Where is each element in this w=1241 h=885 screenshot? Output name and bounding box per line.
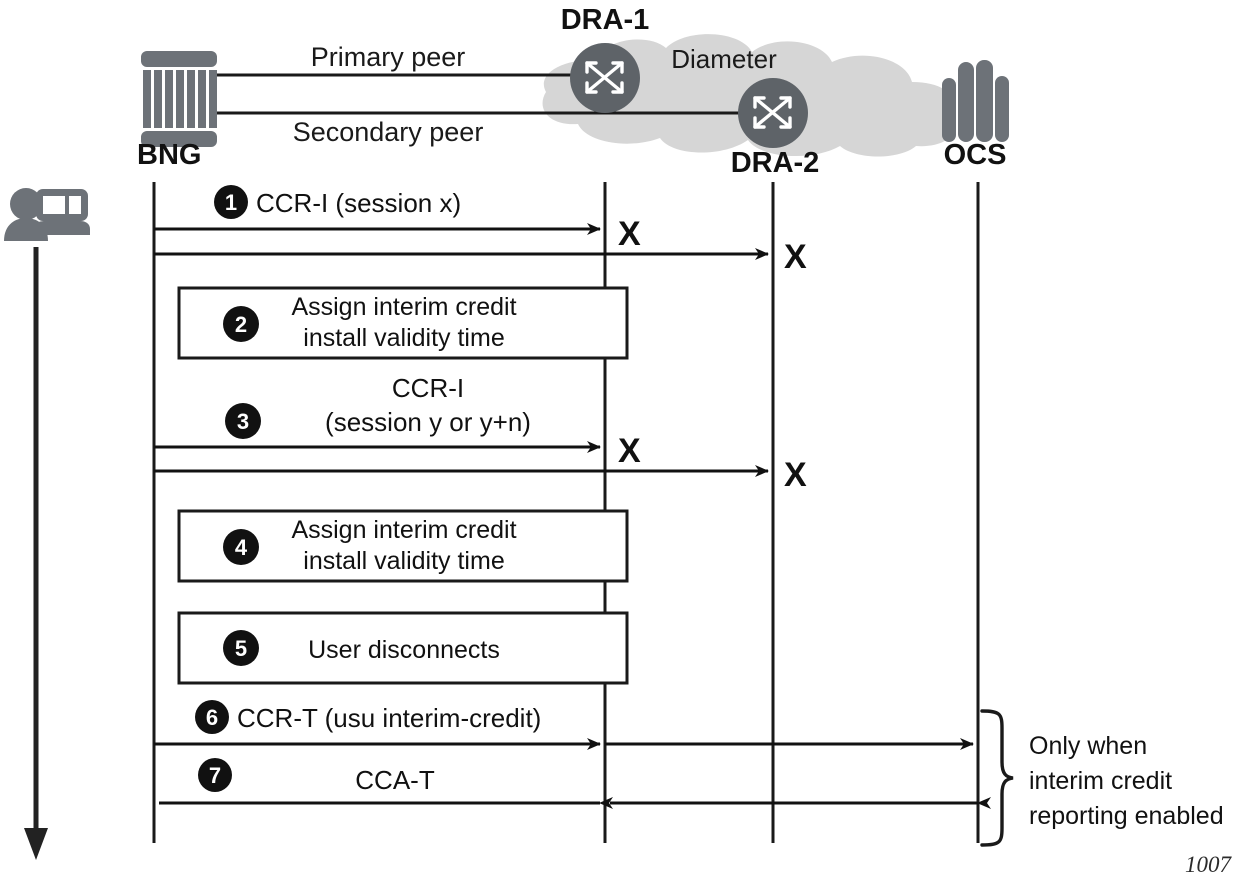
step-3-failure-dra2: X [784,456,807,494]
step-1-failure-dra1: X [618,215,641,253]
secondary-peer-label: Secondary peer [293,117,484,147]
note-step-5: 5 User disconnects [179,613,627,683]
step-2-label-line2: install validity time [303,324,504,352]
step-1-label: CCR-I (session x) [256,188,461,218]
step-4-label-line1: Assign interim credit [291,516,516,544]
step-7-label: CCA-T [355,765,435,795]
step-3-label-line1: CCR-I [392,373,464,403]
step-4-label-line2: install validity time [303,547,504,575]
dra1-router-icon [570,43,640,113]
step-7-badge: 7 [198,758,232,792]
step-3-number: 3 [237,409,249,434]
step-3-failure-dra1: X [618,432,641,470]
diagram-canvas: Diameter BNG Primary peer Secondary peer… [0,0,1241,885]
step-5-label-line1: User disconnects [308,636,500,664]
condition-note-line1: Only when [1029,732,1147,760]
step-6-badge: 6 [195,700,229,734]
step-5-number: 5 [235,636,247,661]
condition-note-line3: reporting enabled [1029,802,1224,830]
ocs-node-label: OCS [944,139,1007,171]
user-workstation-icon [4,188,90,241]
step-1-number: 1 [225,190,237,215]
step-1-badge: 1 [214,185,248,219]
step-4-number: 4 [235,535,248,560]
step-2-label-line1: Assign interim credit [291,293,516,321]
dra2-router-icon [738,78,808,148]
ocs-server-stack-icon [942,60,1009,142]
cloud-label: Diameter [671,44,777,74]
bng-device-icon [141,51,217,147]
figure-id: 1007 [1185,852,1233,877]
condition-brace [982,711,1013,845]
user-timeline-arrow [24,247,48,860]
note-step-4: 4 Assign interim credit install validity… [179,511,627,581]
step-6-label: CCR-T (usu interim-credit) [237,703,541,733]
message-step-1 [154,229,768,254]
step-6-number: 6 [206,705,218,730]
step-7-number: 7 [209,763,221,788]
dra1-node-label: DRA-1 [561,4,650,36]
step-1-failure-dra2: X [784,238,807,276]
primary-peer-label: Primary peer [311,42,466,72]
bng-node-label: BNG [137,139,201,171]
note-step-2: 2 Assign interim credit install validity… [179,288,627,358]
message-step-3 [154,447,768,471]
dra2-node-label: DRA-2 [731,147,820,179]
step-3-label-line2: (session y or y+n) [325,407,531,437]
condition-note-line2: interim credit [1029,767,1172,795]
step-3-badge: 3 [225,403,261,439]
step-2-number: 2 [235,312,247,337]
